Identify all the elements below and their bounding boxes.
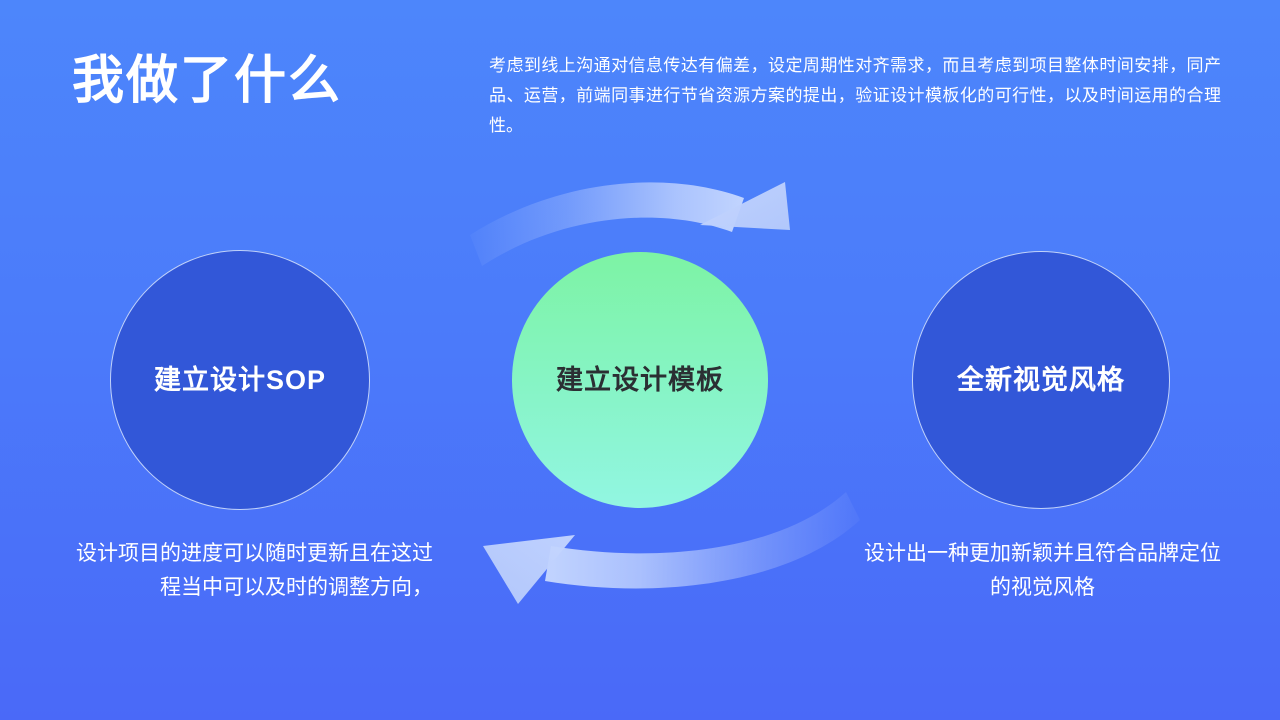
page-title: 我做了什么 [72, 52, 342, 112]
circle-node-left[interactable]: 建立设计SOP [110, 250, 370, 510]
curved-arrow-left-icon [483, 492, 860, 604]
caption-right: 设计出一种更加新颖并且符合品牌定位的视觉风格 [860, 537, 1225, 605]
circle-label-left: 建立设计SOP [154, 364, 326, 396]
circle-node-center[interactable]: 建立设计模板 [512, 252, 768, 508]
slide-canvas: 我做了什么 考虑到线上沟通对信息传达有偏差，设定周期性对齐需求，而且考虑到项目整… [0, 0, 1280, 720]
caption-left: 设计项目的进度可以随时更新且在这过程当中可以及时的调整方向， [60, 537, 433, 605]
circle-node-right[interactable]: 全新视觉风格 [912, 251, 1170, 509]
circle-label-center: 建立设计模板 [556, 364, 724, 396]
circle-label-right: 全新视觉风格 [957, 364, 1125, 396]
intro-paragraph: 考虑到线上沟通对信息传达有偏差，设定周期性对齐需求，而且考虑到项目整体时间安排，… [489, 51, 1221, 141]
